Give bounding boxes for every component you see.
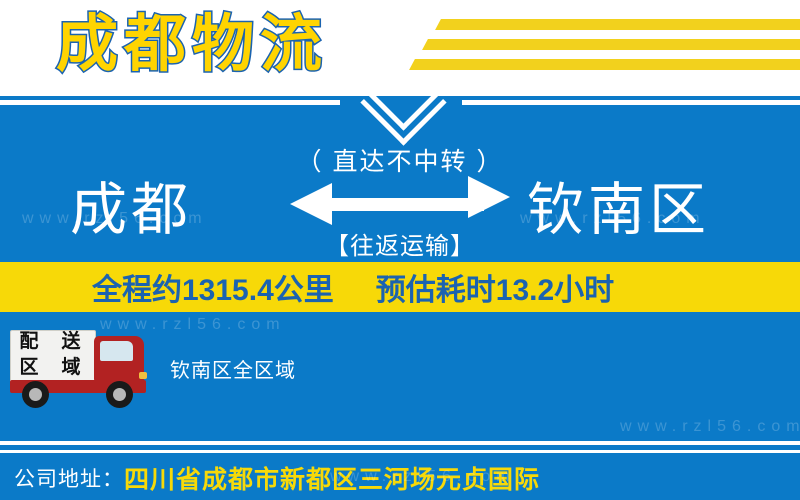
arrow-shaft [316,198,484,211]
truck-window [100,341,133,361]
decorative-stripe-3 [409,59,800,70]
distance-stat: 全程约1315.4公里 [92,265,334,309]
watermark: www.rzl56.com [620,418,800,436]
destination-city: 钦南区 [527,174,710,246]
decorative-stripe-2 [422,39,800,50]
bidirectional-arrow-icon [290,180,510,228]
address-label: 公司地址： [14,463,124,493]
coverage-row: 配 送 区 域 钦南区全区域 [0,328,800,408]
divider-line-left [0,100,340,105]
roundtrip-note: 【往返运输】 [250,226,550,261]
truck-wheel-rear [106,381,133,408]
truck-headlight [139,372,147,379]
truck-wheel-front [22,381,49,408]
duration-stat: 预估耗时13.2小时 [376,265,614,309]
coverage-area-text: 钦南区全区域 [170,354,296,383]
cargo-char-4: 域 [61,358,80,377]
banner-body: （ 直达不中转 ） 成都 钦南区 【往返运输】 全程约1315.4公里 预估耗时… [0,96,800,500]
truck-cargo-label: 配 送 区 域 [8,328,92,380]
address-value: 四川省成都市新都区三河场元贞国际 [124,460,540,496]
address-bar: 公司地址： 四川省成都市新都区三河场元贞国际 [0,456,800,500]
cargo-char-3: 区 [19,358,38,377]
footer-divider-top [0,441,800,445]
stats-band: 全程约1315.4公里 预估耗时13.2小时 [0,262,800,312]
delivery-truck-icon: 配 送 区 域 [8,328,156,402]
page-title: 成都物流 [56,6,328,84]
origin-city: 成都 [70,174,192,246]
logistics-banner: 成都物流 （ 直达不中转 ） 成都 钦南区 【往返运输】 全程约1315.4公里… [0,0,800,500]
footer-divider-bottom [0,450,800,453]
cargo-char-2: 送 [61,332,80,351]
direct-shipping-note: （ 直达不中转 ） [0,142,800,178]
cargo-char-1: 配 [19,332,38,351]
divider-line-right [462,100,800,105]
decorative-stripe-1 [435,19,800,30]
arrow-head-right [468,176,510,218]
